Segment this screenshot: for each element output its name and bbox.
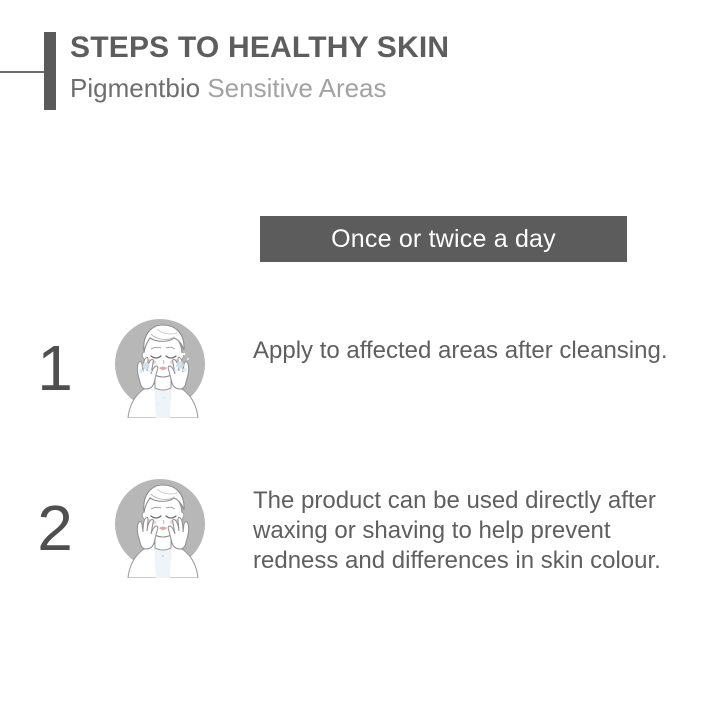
page-title: STEPS TO HEALTHY SKIN	[70, 30, 449, 66]
woman-applying-to-face-icon	[110, 478, 215, 578]
step-number: 2	[0, 478, 110, 560]
woman-applying-to-face-icon	[110, 318, 215, 418]
page-subtitle: Pigmentbio Sensitive Areas	[70, 70, 449, 106]
header-text-block: STEPS TO HEALTHY SKIN Pigmentbio Sensiti…	[70, 30, 449, 106]
product-variant: Sensitive Areas	[207, 73, 386, 103]
step-description: Apply to affected areas after cleansing.	[215, 318, 720, 366]
frequency-banner: Once or twice a day	[260, 216, 627, 262]
step-item: 1	[0, 318, 720, 418]
header-rule-line	[0, 71, 48, 73]
brand-name: Pigmentbio	[70, 73, 200, 103]
step-number: 1	[0, 318, 110, 400]
step-item: 2 The product can be used directly	[0, 478, 720, 578]
header-accent-bar	[44, 32, 56, 110]
page-header: STEPS TO HEALTHY SKIN Pigmentbio Sensiti…	[0, 30, 720, 120]
frequency-banner-label: Once or twice a day	[331, 225, 556, 254]
step-description: The product can be used directly after w…	[215, 478, 720, 576]
